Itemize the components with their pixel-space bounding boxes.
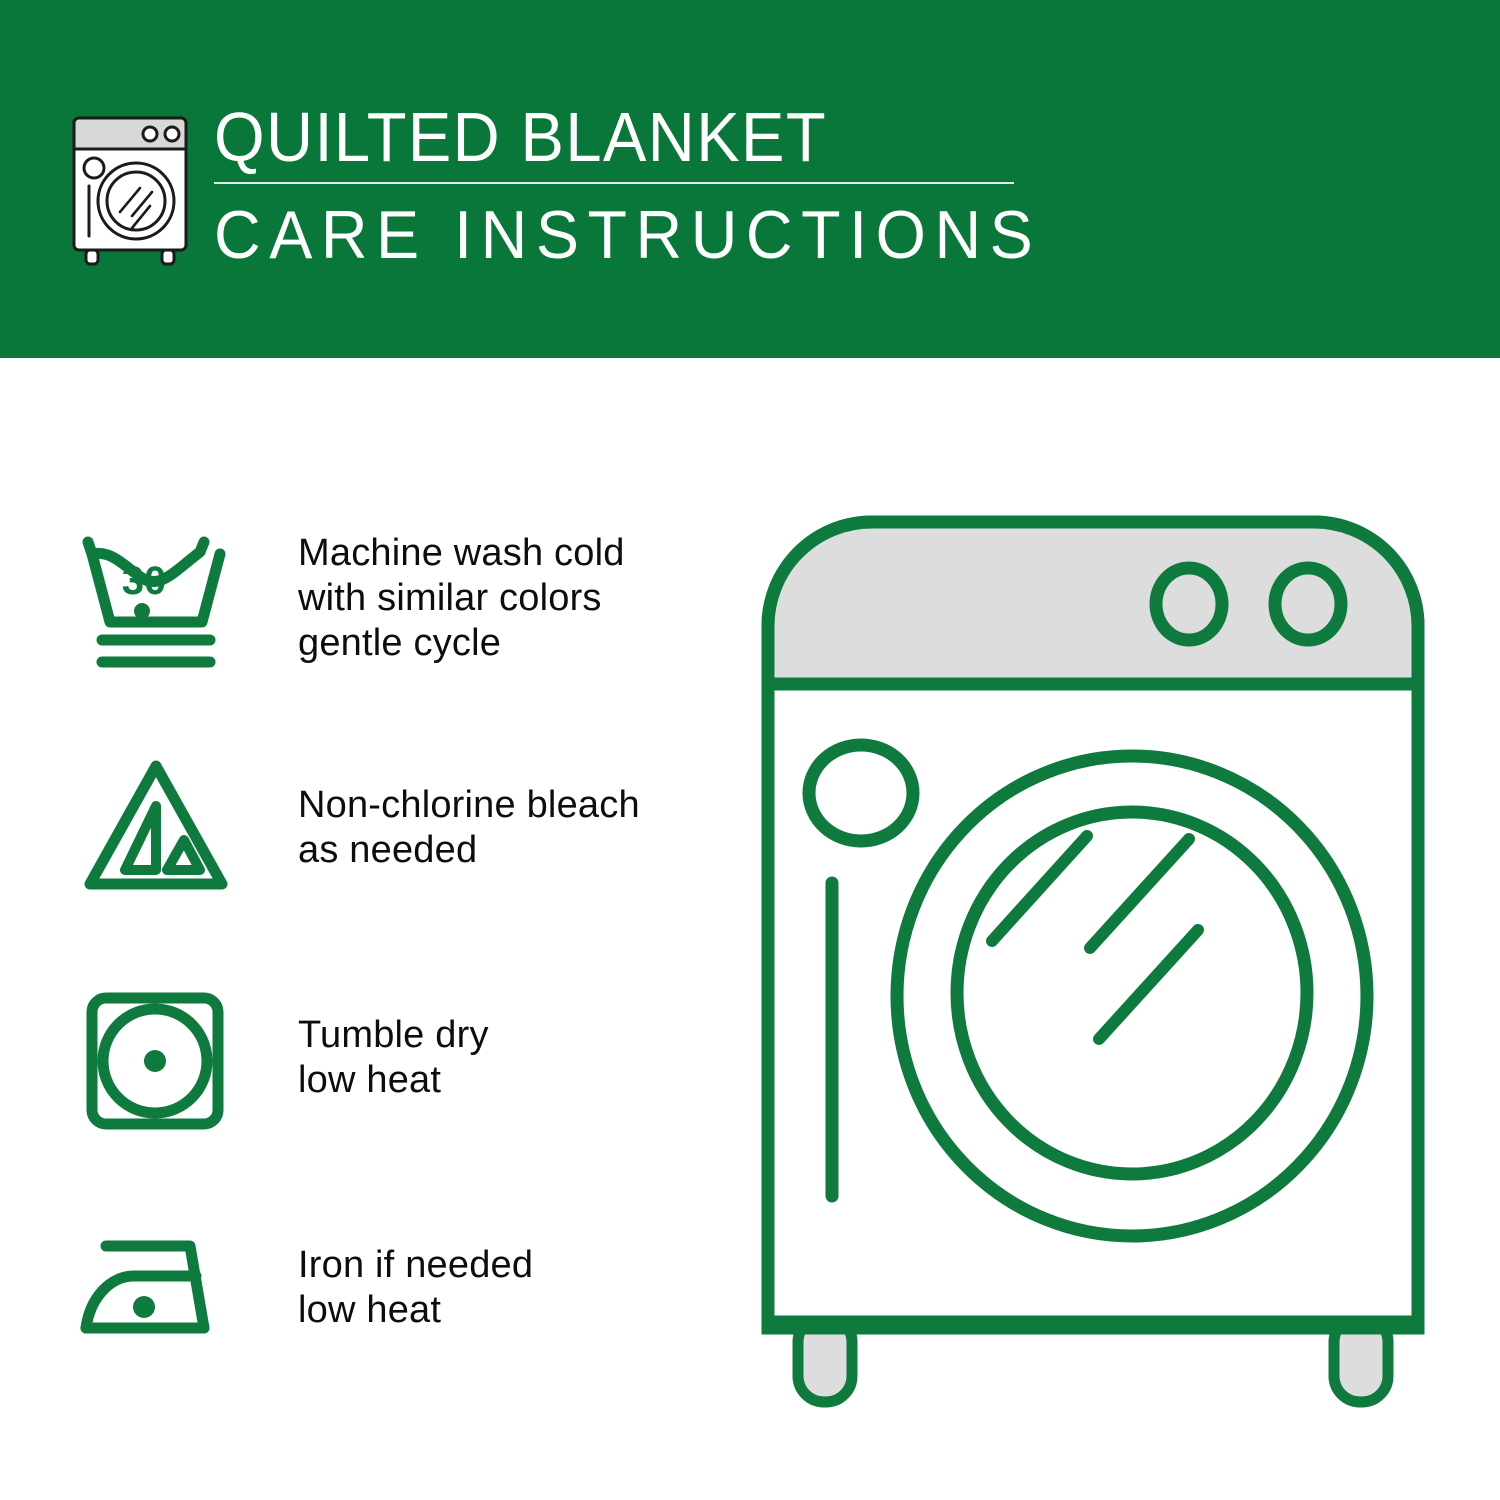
care-instruction-list: 30 Machine wash cold with similar colors… <box>72 512 712 1374</box>
list-item: 30 Machine wash cold with similar colors… <box>72 512 712 684</box>
non-chlorine-bleach-icon <box>72 744 240 912</box>
tumble-dry-low-icon <box>72 974 240 1142</box>
list-item-label: Non-chlorine bleach as needed <box>298 783 640 873</box>
header-band: QUILTED BLANKET CARE INSTRUCTIONS <box>0 0 1500 358</box>
title-divider <box>214 182 1014 184</box>
wash-temperature-value: 30 <box>122 559 167 603</box>
list-item-label: Tumble dry low heat <box>298 1013 489 1103</box>
machine-wash-30-gentle-icon: 30 <box>72 514 240 682</box>
iron-low-heat-icon <box>72 1204 240 1372</box>
list-item-label: Machine wash cold with similar colors ge… <box>298 531 625 666</box>
washing-machine-icon <box>62 100 202 268</box>
care-instructions-page: QUILTED BLANKET CARE INSTRUCTIONS <box>0 0 1500 1500</box>
page-subtitle: CARE INSTRUCTIONS <box>214 198 984 272</box>
list-item-label: Iron if needed low heat <box>298 1243 533 1333</box>
front-load-washing-machine-illustration <box>742 496 1442 1416</box>
list-item: Tumble dry low heat <box>72 972 712 1144</box>
page-title: QUILTED BLANKET <box>214 98 967 176</box>
list-item: Iron if needed low heat <box>72 1202 712 1374</box>
header-text-block: QUILTED BLANKET CARE INSTRUCTIONS <box>214 98 1024 272</box>
list-item: Non-chlorine bleach as needed <box>72 742 712 914</box>
